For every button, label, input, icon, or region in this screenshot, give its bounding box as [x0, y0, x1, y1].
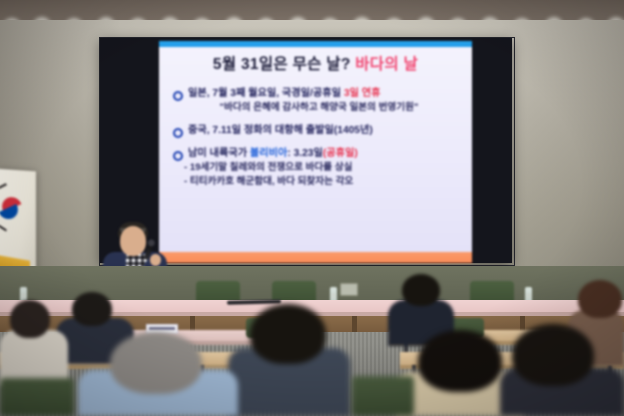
bullet-text: 중국, 7.11일 정화의 대항해 출발일(1405년) — [188, 124, 373, 137]
wall-sign — [340, 283, 358, 296]
presenter-head — [120, 226, 146, 256]
ring-bullet-icon — [173, 128, 183, 138]
slide: 5월 31일은 무슨 날? 바다의 날 일본, 7월 3째 월요일, 국경일/공… — [159, 41, 472, 263]
ring-bullet-icon — [173, 151, 183, 161]
presentation-photo: 5월 31일은 무슨 날? 바다의 날 일본, 7월 3째 월요일, 국경일/공… — [0, 0, 624, 416]
bullet-subtext: "바다의 은혜에 감사하고 해양국 일본의 번영기원" — [173, 102, 465, 115]
slide-top-band — [159, 41, 472, 47]
wall-shadow-right — [500, 20, 624, 290]
trigram-mark — [0, 225, 7, 232]
bullet-text: 일본, 7월 3째 월요일, 국경일/공휴일 3일 연휴 — [188, 87, 380, 100]
bullet-text: 남미 내륙국가 볼리비아: 3.23일(공휴일) — [188, 147, 358, 160]
slide-bottom-band — [159, 252, 472, 263]
slide-bullet-list: 일본, 7월 3째 월요일, 국경일/공휴일 3일 연휴 "바다의 은혜에 감사… — [173, 87, 465, 198]
audience-chair — [0, 378, 74, 416]
bullet-subtext: - 티티카카호 해군함대, 바다 되찾자는 각오 — [173, 176, 465, 189]
presenter-hand — [150, 254, 161, 266]
ring-bullet-icon — [173, 91, 183, 101]
slide-bullet-item: 남미 내륙국가 볼리비아: 3.23일(공휴일) - 19세기말 칠레와의 전쟁… — [173, 147, 465, 189]
audience-chair — [352, 376, 414, 416]
slide-bullet-item: 일본, 7월 3째 월요일, 국경일/공휴일 3일 연휴 "바다의 은혜에 감사… — [173, 87, 465, 115]
slide-title: 5월 31일은 무슨 날? 바다의 날 — [159, 52, 472, 74]
slide-title-highlight: 바다의 날 — [355, 56, 418, 73]
slide-title-main: 5월 31일은 무슨 날? — [213, 56, 351, 73]
trigram-mark — [0, 183, 7, 189]
slide-bullet-item: 중국, 7.11일 정화의 대항해 출발일(1405년) — [173, 124, 465, 138]
bullet-subtext: - 19세기말 칠레와의 전쟁으로 바다를 상실 — [173, 162, 465, 175]
